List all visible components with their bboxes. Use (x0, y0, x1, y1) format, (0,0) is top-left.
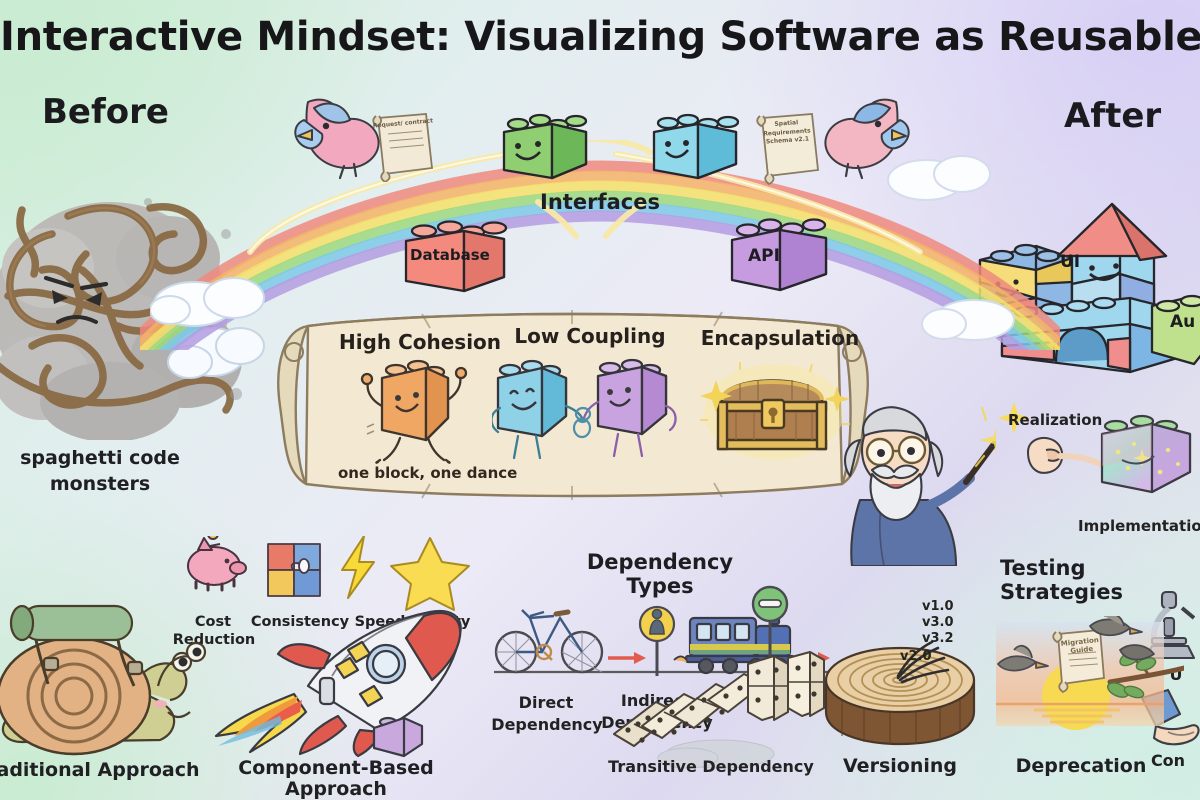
rocket-icon (210, 588, 470, 758)
dancing-orange-block-icon (350, 352, 480, 464)
sunset-migrating-birds-icon: Migration Guide (984, 616, 1184, 756)
hand-pointing-icon (1024, 430, 1104, 486)
lego-label-database: Database (410, 246, 490, 264)
principle-heading-encapsulation: Encapsulation (690, 326, 870, 350)
dependency-label-transitive: Transitive Dependency (586, 758, 836, 776)
version-label-2: v3.0 (922, 616, 954, 631)
principle-heading-cohesion: High Cohesion (330, 330, 510, 354)
version-label-3: v3.2 (922, 632, 954, 647)
illustration-canvas: Interactive Mindset: Visualizing Softwar… (0, 0, 1200, 800)
version-label-1: v1.0 (922, 600, 954, 615)
page-title: Interactive Mindset: Visualizing Softwar… (0, 14, 1200, 60)
component-approach-caption: Component-Based Approach (206, 758, 466, 800)
implementation-magic-block (1094, 410, 1198, 506)
after-label: After (1064, 96, 1161, 136)
dependency-label-direct-line2: Dependency (488, 716, 606, 734)
cloud-right-icon (880, 146, 1000, 202)
cloud-left-icon (150, 268, 280, 328)
lego-label-api: API (748, 246, 780, 266)
lego-block-green-smiley (496, 110, 592, 190)
spaghetti-caption-line1: spaghetti code (0, 448, 200, 469)
cloud-right-lower-icon (920, 286, 1040, 342)
version-label-4: v2.0 (900, 650, 932, 665)
principle-subtext-cohesion: one block, one dance (338, 464, 517, 482)
interfaces-label: Interfaces (490, 190, 710, 214)
bird-right-scroll-text: Spatial Requirements Schema v2.1 (759, 118, 815, 148)
dependency-label-direct-line1: Direct (498, 694, 594, 712)
after-block-label-ui: UI (1060, 252, 1080, 272)
wizard-icon (836, 396, 996, 566)
lego-block-blue-smiley (648, 110, 744, 190)
before-label: Before (42, 92, 169, 132)
implementation-label: Implementation (1078, 518, 1200, 535)
locked-treasure-chest-icon (700, 356, 850, 462)
principle-heading-coupling: Low Coupling (500, 324, 680, 348)
two-blocks-loose-knot-icon (492, 352, 682, 464)
dominoes-icon (612, 650, 838, 770)
snail-icon (0, 592, 242, 772)
traditional-approach-caption: aditional Approach (0, 760, 218, 781)
deprecation-caption: Deprecation (986, 756, 1176, 777)
spaghetti-caption-line2: monsters (0, 474, 200, 495)
lego-block-api (726, 212, 836, 296)
after-block-label-auth: Au (1170, 312, 1195, 332)
versioning-caption: Versioning (830, 756, 970, 777)
